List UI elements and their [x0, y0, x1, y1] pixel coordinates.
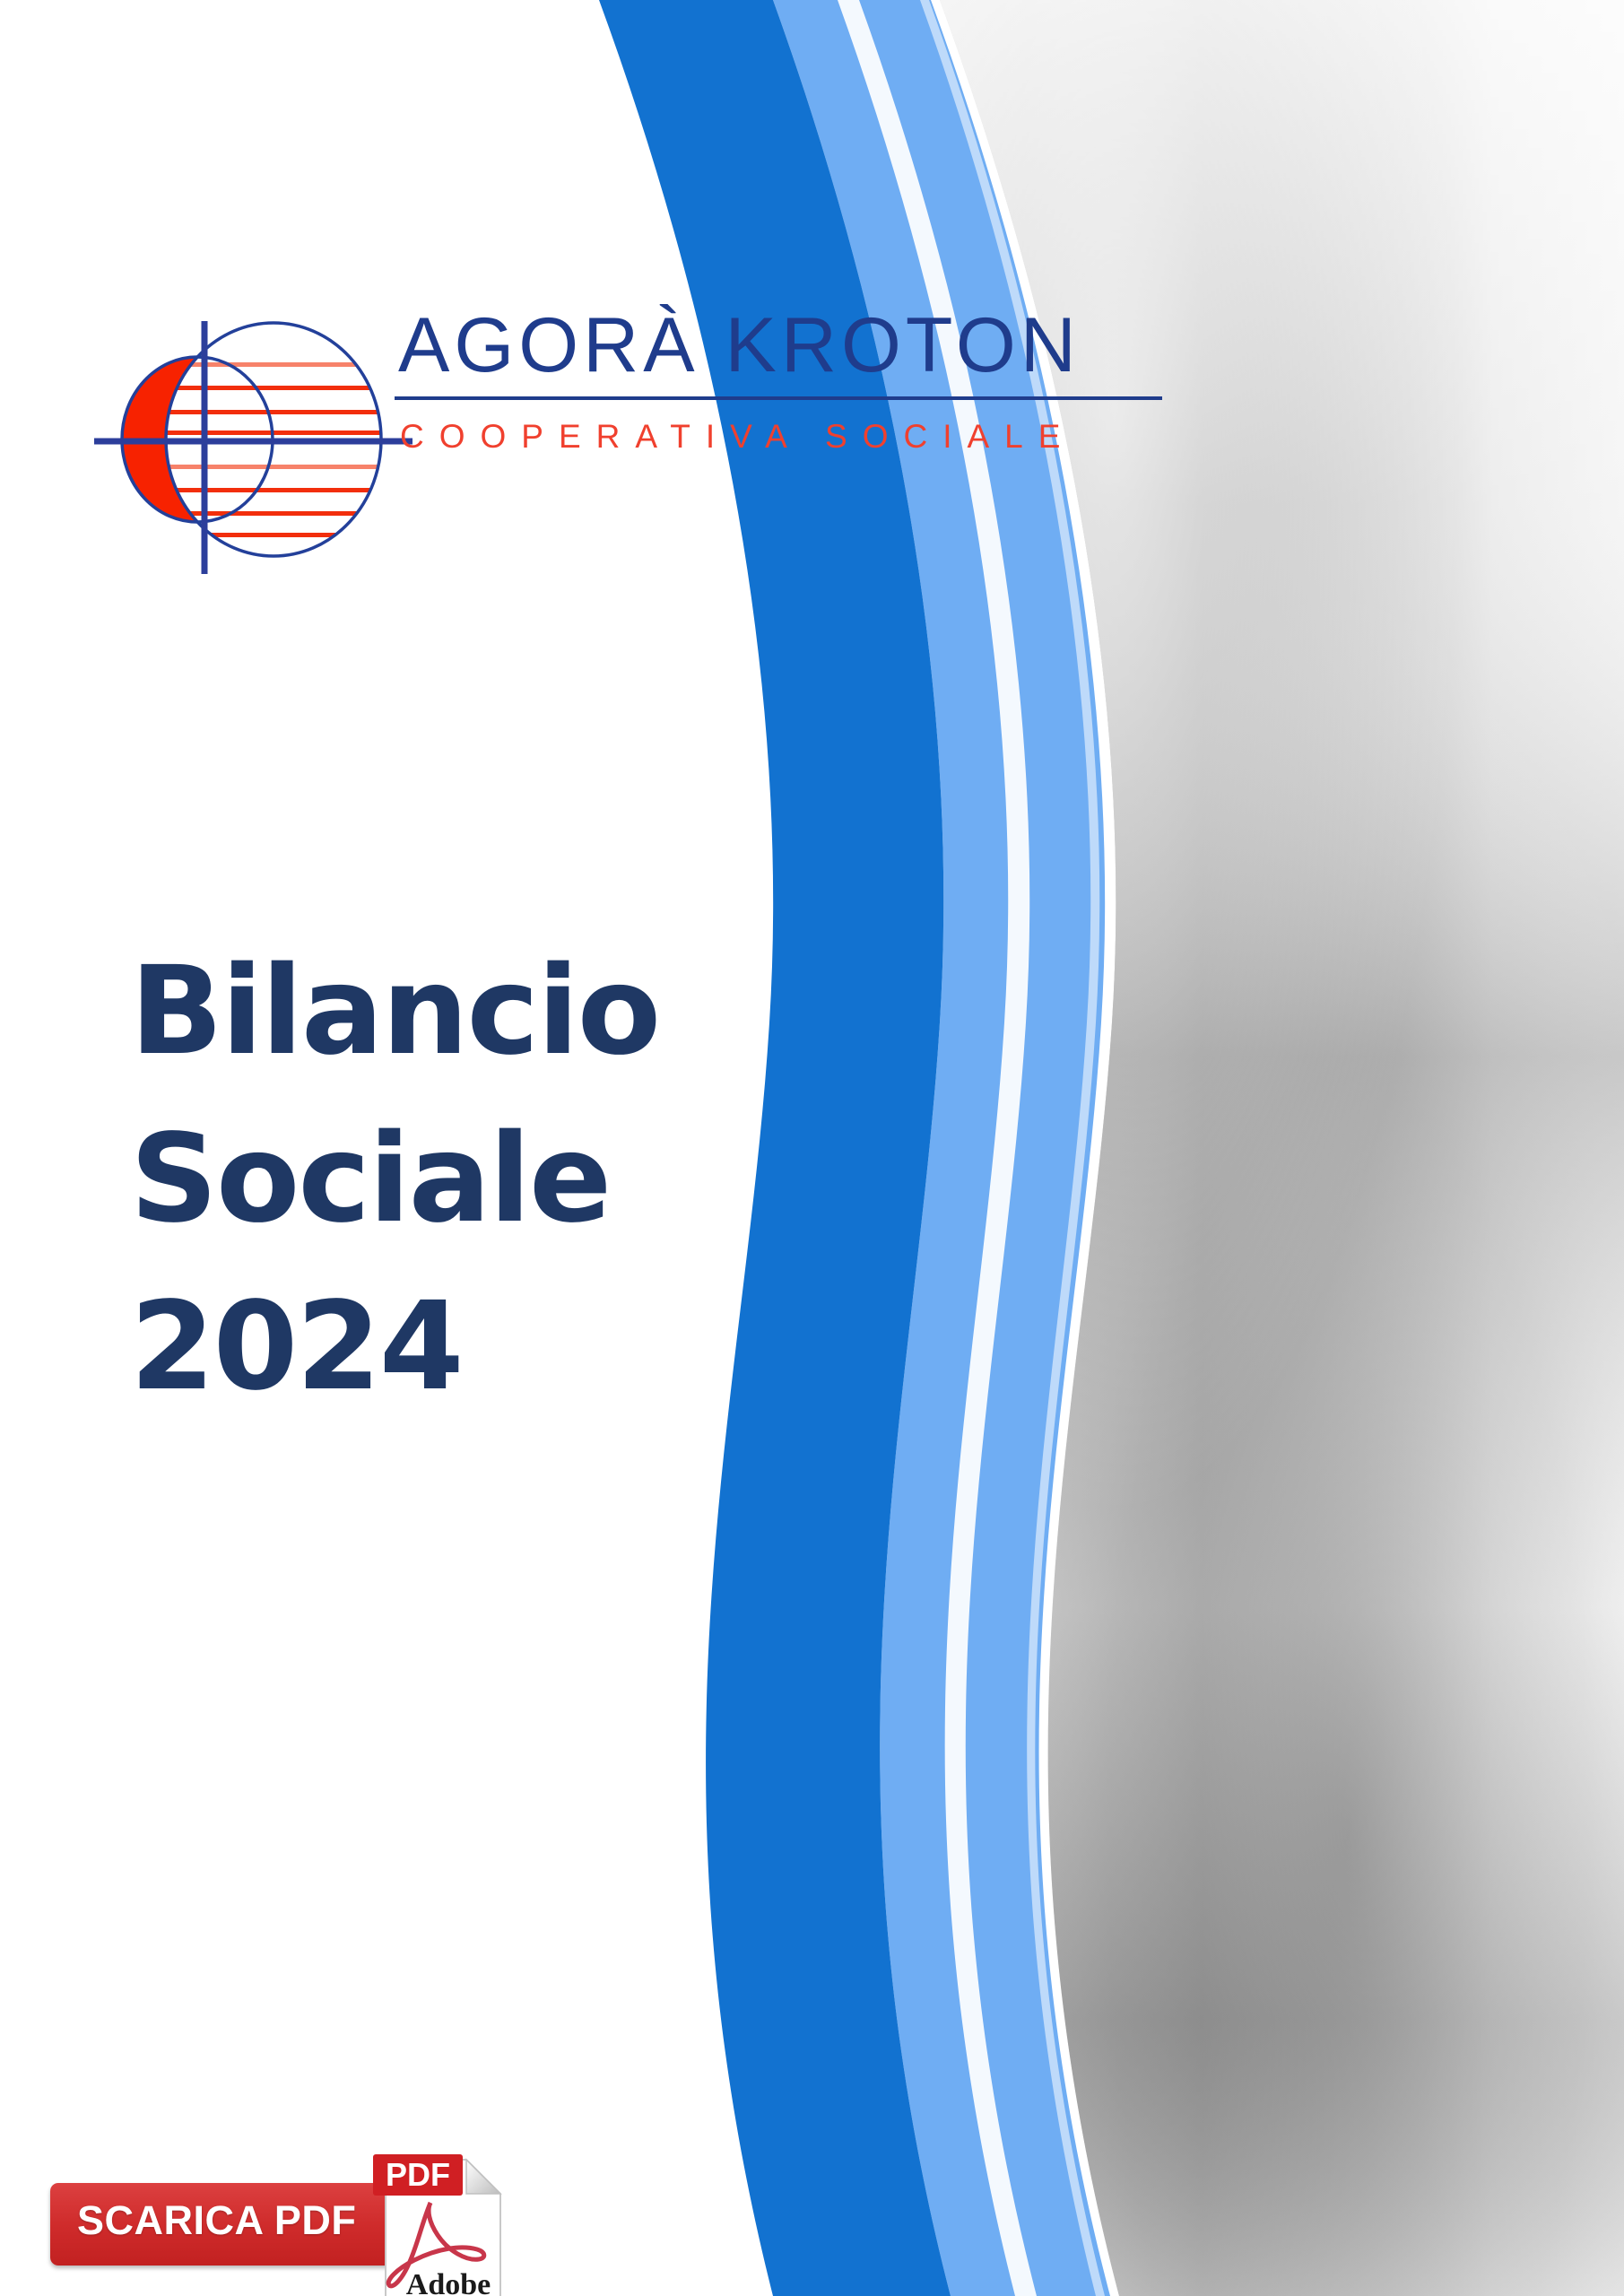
- document-cover-page: AGORÀ KROTON COOPERATIVA SOCIALE Bilanci…: [0, 0, 1624, 2296]
- title-line-2: Sociale: [130, 1114, 686, 1246]
- adobe-pdf-icon[interactable]: PDF Adobe: [366, 2152, 509, 2296]
- brand-wordmark: AGORÀ KROTON COOPERATIVA SOCIALE: [395, 307, 1184, 576]
- brand-tagline: COOPERATIVA SOCIALE: [395, 420, 1184, 453]
- title-line-3: 2024: [130, 1282, 686, 1413]
- wordmark-divider: [395, 396, 1162, 400]
- page-title: Bilancio Sociale 2024: [130, 946, 686, 1413]
- brand-logo: AGORÀ KROTON COOPERATIVA SOCIALE: [90, 296, 1175, 583]
- brand-name: AGORÀ KROTON: [395, 307, 1184, 384]
- pdf-badge-text: PDF: [386, 2156, 450, 2193]
- agora-kroton-circles-mark: [90, 296, 413, 583]
- download-pdf-row: SCARICA PDF PDF Adobe: [50, 2152, 499, 2296]
- adobe-wordmark-text: Adobe: [406, 2268, 491, 2296]
- title-line-1: Bilancio: [130, 946, 686, 1078]
